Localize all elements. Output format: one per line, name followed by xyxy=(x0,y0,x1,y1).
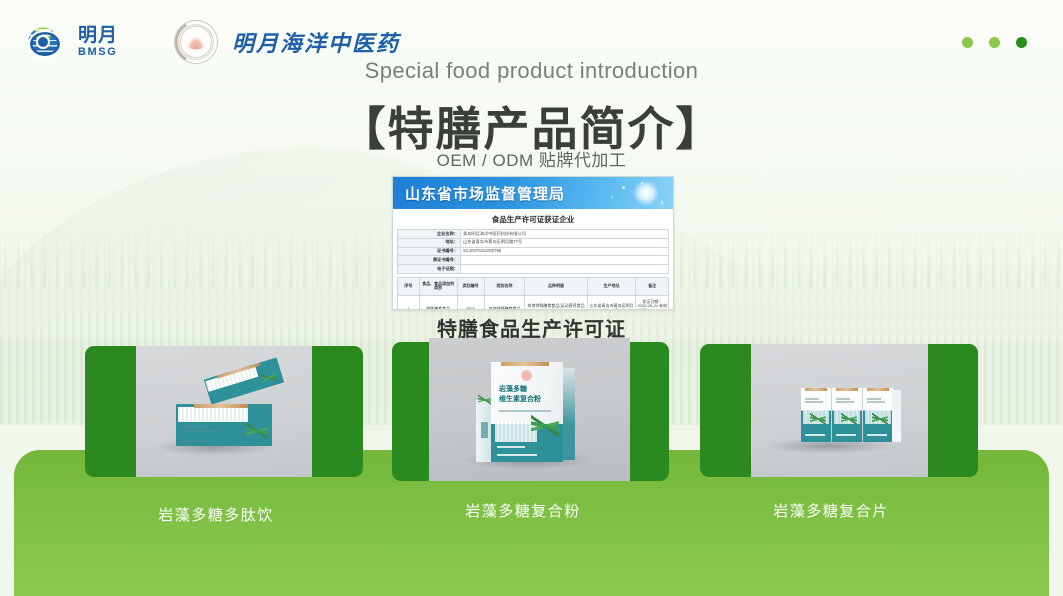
slide-canvas: 明月 BMSG 明月海洋中医药 Special food product int… xyxy=(0,0,1063,596)
product-card-row: 岩藻多糖多肽饮 岩藻多糖 维生素复合粉 xyxy=(0,0,1063,596)
product-box-small xyxy=(204,357,284,404)
product-caption-3: 岩藻多糖复合片 xyxy=(700,500,962,521)
product-photo-2: 岩藻多糖 维生素复合粉 xyxy=(429,338,630,481)
product-card-2[interactable]: 岩藻多糖 维生素复合粉 xyxy=(392,342,669,481)
product-caption-1: 岩藻多糖多肽饮 xyxy=(85,504,347,525)
product-box-side xyxy=(563,368,575,460)
product-box-line2: 维生素复合粉 xyxy=(499,396,541,404)
product-card-1[interactable] xyxy=(85,346,363,477)
product-box-main xyxy=(176,404,272,446)
product-photo-1 xyxy=(136,346,312,477)
product-photo-3 xyxy=(751,344,928,477)
product-caption-2: 岩藻多糖复合粉 xyxy=(392,500,654,521)
product-card-3[interactable] xyxy=(700,344,978,477)
product-box-group xyxy=(801,388,893,442)
product-box-line1: 岩藻多糖 xyxy=(499,386,527,394)
product-box-main: 岩藻多糖 维生素复合粉 xyxy=(491,362,563,462)
